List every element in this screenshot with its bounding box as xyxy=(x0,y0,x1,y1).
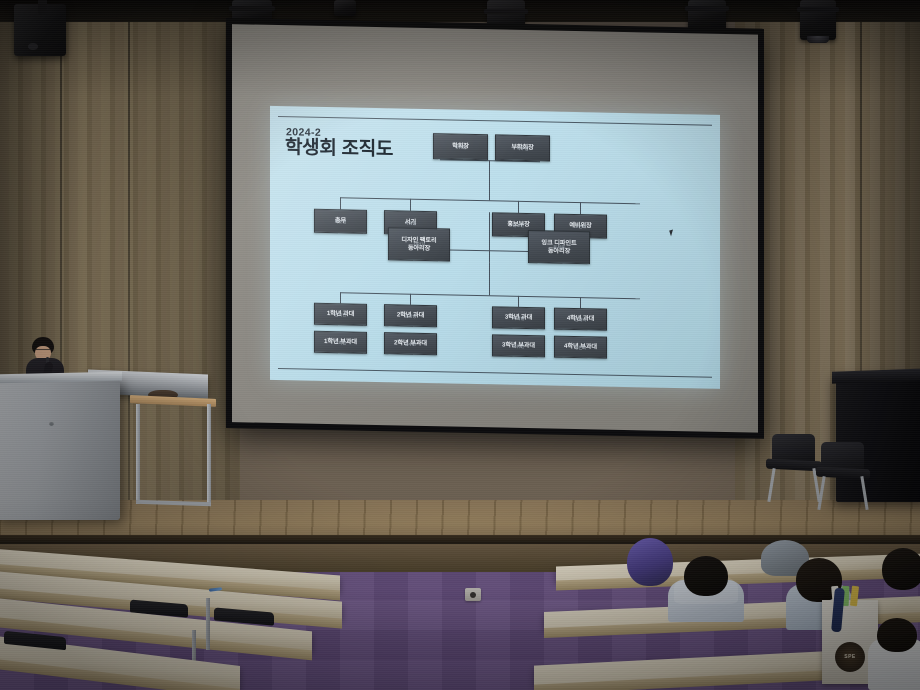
node-person: 박수인 xyxy=(517,146,529,152)
org-node-rep-year1: 1학년 과대 손지민 xyxy=(314,303,367,326)
connector-l2-d xyxy=(580,202,581,214)
node-person: 손지민 xyxy=(335,312,347,318)
connector-level4-bar xyxy=(340,292,640,299)
connector-l2-c xyxy=(518,201,519,213)
org-node-vicerep-year3: 3학년 부과대 서유진 xyxy=(492,334,545,357)
paper-in-bag-3 xyxy=(850,586,859,607)
tote-strap xyxy=(831,588,845,633)
mouse-pointer-icon xyxy=(669,230,675,237)
desk-leg-1 xyxy=(206,598,210,650)
lectern xyxy=(0,378,120,520)
org-node-rep-year4: 4학년 과대 민채나 xyxy=(554,308,607,331)
node-person: 민채나 xyxy=(575,317,587,323)
folding-chair-2 xyxy=(816,442,870,510)
node-person: 최소영 xyxy=(335,219,347,225)
node-person: 박예별 xyxy=(513,316,525,322)
connector-l4-c xyxy=(518,296,519,307)
node-person: 정은비 xyxy=(575,345,587,351)
org-node-treasurer: 총무 최소영 xyxy=(314,209,367,234)
lectern-knob xyxy=(49,421,54,426)
stage-light-2 xyxy=(334,0,356,16)
connector-l4-a xyxy=(340,292,341,303)
org-node-vicerep-year4: 4학년 부과대 정은비 xyxy=(554,336,607,359)
node-person: 이재흠 xyxy=(405,220,417,226)
org-node-vicerep-year1: 1학년 부과대 고하은 xyxy=(314,331,367,354)
audience-person-far-right xyxy=(880,548,920,608)
node-person: 고하은 xyxy=(335,340,347,346)
wall-power-outlet xyxy=(465,588,481,601)
org-node-vicerep-year2: 2학년 부과대 김수민 xyxy=(384,332,437,355)
lecture-hall-scene: 2024-2 학생회 조직도 xyxy=(0,0,920,690)
person-head xyxy=(882,548,920,590)
node-person: 서유진 xyxy=(513,344,525,350)
folding-chair-1 xyxy=(766,434,822,504)
org-node-president: 학회장 이유은 xyxy=(433,133,488,160)
node-person: 윤서윤 xyxy=(553,245,565,251)
ceiling-band xyxy=(0,0,920,22)
connector-trunk-low xyxy=(489,262,490,295)
org-node-rep-year3: 3학년 과대 박예별 xyxy=(492,306,545,329)
speaker-bracket-left xyxy=(38,0,47,15)
connector-l4-b xyxy=(410,294,411,305)
node-person: 고민효 xyxy=(575,224,587,230)
connector-l4-d xyxy=(580,297,581,308)
connector-trunk-mid xyxy=(489,212,490,262)
audience-person-hoodie-center xyxy=(668,556,744,622)
node-person: 윤소민 xyxy=(513,223,525,229)
connector-level2-bar xyxy=(340,197,640,204)
tote-logo: SPE xyxy=(835,642,865,672)
org-node-club-ink-definite: 잉크 디파인트 동아리장 윤서윤 xyxy=(528,230,590,264)
node-person: 이유은 xyxy=(455,144,467,150)
node-person: 김수민 xyxy=(405,341,417,347)
org-node-rep-year2: 2학년 과대 김지영 xyxy=(384,304,437,327)
person-head xyxy=(877,618,917,652)
stage-light-5 xyxy=(800,0,836,40)
side-table xyxy=(130,397,216,509)
connector-l2-a xyxy=(340,197,341,209)
projected-slide: 2024-2 학생회 조직도 xyxy=(270,106,720,389)
person-head xyxy=(627,538,673,586)
org-node-vice-president: 부학회장 박수인 xyxy=(495,134,550,161)
screen-surface: 2024-2 학생회 조직도 xyxy=(232,24,758,433)
connector-trunk-main xyxy=(489,160,490,200)
connector-l2-b xyxy=(410,199,411,211)
org-chart: 학회장 이유은 부학회장 박수인 총무 최소영 서기 이재흠 xyxy=(270,106,720,389)
glasses-icon xyxy=(35,349,51,353)
org-node-club-design-factory: 디자인 팩토리 동아리장 김민기 xyxy=(388,227,450,261)
person-head xyxy=(684,556,728,596)
audience-person-white-shirt-front xyxy=(868,618,920,690)
node-person: 김민기 xyxy=(413,242,425,248)
projection-screen: 2024-2 학생회 조직도 xyxy=(226,18,764,439)
node-person: 김지영 xyxy=(405,313,417,319)
